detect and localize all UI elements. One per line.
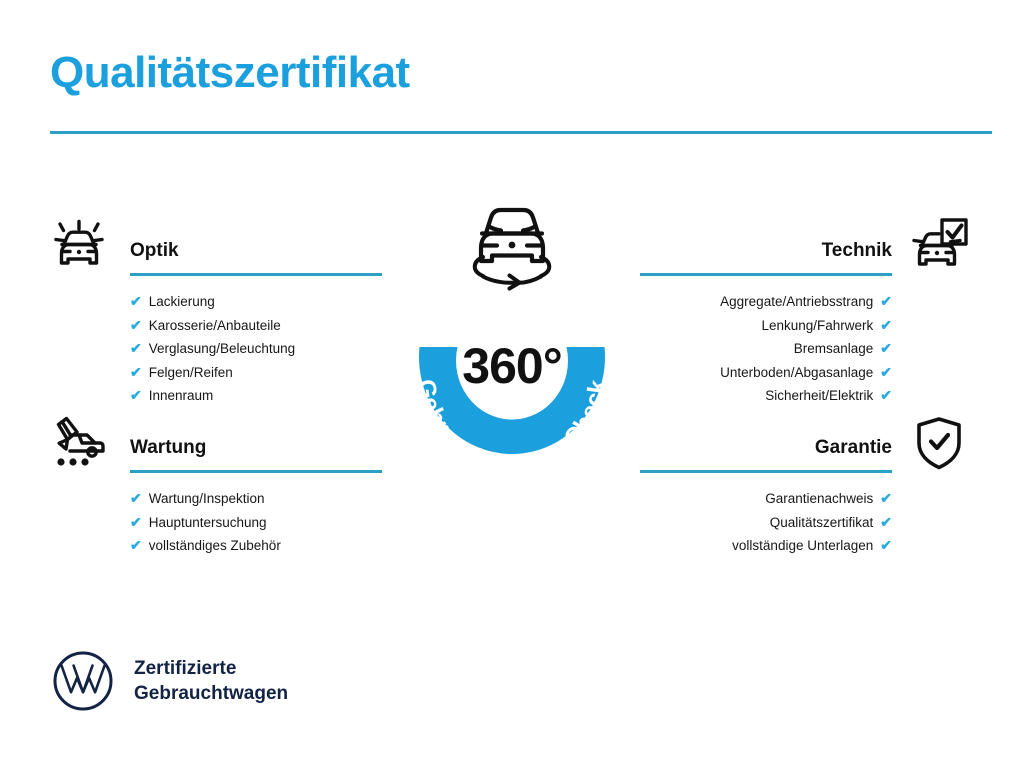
- car-shine-icon: [46, 212, 112, 278]
- section-divider-garantie: [640, 470, 892, 473]
- section-technik: Technik Aggregate/Antriebsstrang✔ Lenkun…: [640, 238, 892, 408]
- shield-check-icon: [906, 410, 972, 476]
- list-item: Bremsanlage✔: [640, 337, 892, 361]
- check-icon: ✔: [880, 487, 892, 511]
- checklist-wartung: ✔Wartung/Inspektion ✔Hauptuntersuchung ✔…: [130, 487, 382, 558]
- check-icon: ✔: [880, 534, 892, 558]
- list-item-label: Sicherheit/Elektrik: [765, 384, 873, 408]
- list-item: Garantienachweis✔: [640, 487, 892, 511]
- check-icon: ✔: [880, 384, 892, 408]
- list-item-label: Verglasung/Beleuchtung: [149, 337, 295, 361]
- section-divider-optik: [130, 273, 382, 276]
- list-item-label: Garantienachweis: [765, 487, 873, 511]
- list-item-label: Lenkung/Fahrwerk: [761, 314, 873, 338]
- footer-brand-lockup: Zertifizierte Gebrauchtwagen: [52, 650, 288, 712]
- section-header-optik: Optik: [130, 238, 382, 276]
- section-garantie: Garantie Garantienachweis✔ Qualitätszert…: [640, 435, 892, 558]
- section-title-wartung: Wartung: [130, 435, 382, 461]
- list-item: ✔Karosserie/Anbauteile: [130, 314, 382, 338]
- title-divider: [50, 131, 992, 134]
- check-icon: ✔: [130, 487, 142, 511]
- list-item: ✔Verglasung/Beleuchtung: [130, 337, 382, 361]
- car-service-log-icon: [46, 410, 112, 476]
- footer-brand-text: Zertifizierte Gebrauchtwagen: [134, 656, 288, 706]
- check-icon: ✔: [130, 511, 142, 535]
- check-icon: ✔: [130, 384, 142, 408]
- list-item: ✔Hauptuntersuchung: [130, 511, 382, 535]
- check-icon: ✔: [130, 534, 142, 558]
- check-icon: ✔: [880, 511, 892, 535]
- list-item: vollständige Unterlagen✔: [640, 534, 892, 558]
- section-divider-wartung: [130, 470, 382, 473]
- list-item: ✔vollständiges Zubehör: [130, 534, 382, 558]
- list-item-label: Qualitätszertifikat: [770, 511, 874, 535]
- car-checkbox-icon: [906, 212, 972, 278]
- section-title-garantie: Garantie: [640, 435, 892, 461]
- section-wartung: Wartung ✔Wartung/Inspektion ✔Hauptunters…: [130, 435, 382, 558]
- list-item: ✔Felgen/Reifen: [130, 361, 382, 385]
- check-icon: ✔: [880, 314, 892, 338]
- section-title-optik: Optik: [130, 238, 382, 264]
- vw-logo: [52, 650, 114, 712]
- list-item: Unterboden/Abgasanlage✔: [640, 361, 892, 385]
- list-item-label: Felgen/Reifen: [149, 361, 233, 385]
- badge-ring: Gebrauchtwagen-Check: [378, 255, 646, 505]
- list-item-label: Karosserie/Anbauteile: [149, 314, 281, 338]
- check-icon: ✔: [880, 337, 892, 361]
- list-item-label: Wartung/Inspektion: [149, 487, 265, 511]
- list-item-label: vollständige Unterlagen: [732, 534, 873, 558]
- list-item: ✔Lackierung: [130, 290, 382, 314]
- check-icon: ✔: [130, 290, 142, 314]
- section-title-technik: Technik: [640, 238, 892, 264]
- check-icon: ✔: [880, 290, 892, 314]
- section-divider-technik: [640, 273, 892, 276]
- list-item-label: vollständiges Zubehör: [149, 534, 281, 558]
- check-icon: ✔: [130, 337, 142, 361]
- list-item: ✔Wartung/Inspektion: [130, 487, 382, 511]
- list-item: Qualitätszertifikat✔: [640, 511, 892, 535]
- footer-line-2: Gebrauchtwagen: [134, 681, 288, 706]
- check-icon: ✔: [130, 314, 142, 338]
- checklist-garantie: Garantienachweis✔ Qualitätszertifikat✔ v…: [640, 487, 892, 558]
- list-item: Sicherheit/Elektrik✔: [640, 384, 892, 408]
- checklist-optik: ✔Lackierung ✔Karosserie/Anbauteile ✔Verg…: [130, 290, 382, 408]
- list-item: Lenkung/Fahrwerk✔: [640, 314, 892, 338]
- list-item: ✔Innenraum: [130, 384, 382, 408]
- list-item-label: Lackierung: [149, 290, 215, 314]
- car-rotate-icon: [459, 193, 565, 289]
- list-item-label: Unterboden/Abgasanlage: [720, 361, 873, 385]
- list-item-label: Hauptuntersuchung: [149, 511, 267, 535]
- page-title: Qualitätszertifikat: [50, 50, 410, 96]
- list-item-label: Innenraum: [149, 384, 214, 408]
- check-icon: ✔: [130, 361, 142, 385]
- section-header-wartung: Wartung: [130, 435, 382, 473]
- list-item: Aggregate/Antriebsstrang✔: [640, 290, 892, 314]
- check-icon: ✔: [880, 361, 892, 385]
- list-item-label: Aggregate/Antriebsstrang: [720, 290, 873, 314]
- section-header-technik: Technik: [640, 238, 892, 276]
- footer-line-1: Zertifizierte: [134, 656, 288, 681]
- section-header-garantie: Garantie: [640, 435, 892, 473]
- badge-360-check: Gebrauchtwagen-Check 360°: [378, 255, 646, 505]
- list-item-label: Bremsanlage: [794, 337, 874, 361]
- section-optik: Optik ✔Lackierung ✔Karosserie/Anbauteile…: [130, 238, 382, 408]
- checklist-technik: Aggregate/Antriebsstrang✔ Lenkung/Fahrwe…: [640, 290, 892, 408]
